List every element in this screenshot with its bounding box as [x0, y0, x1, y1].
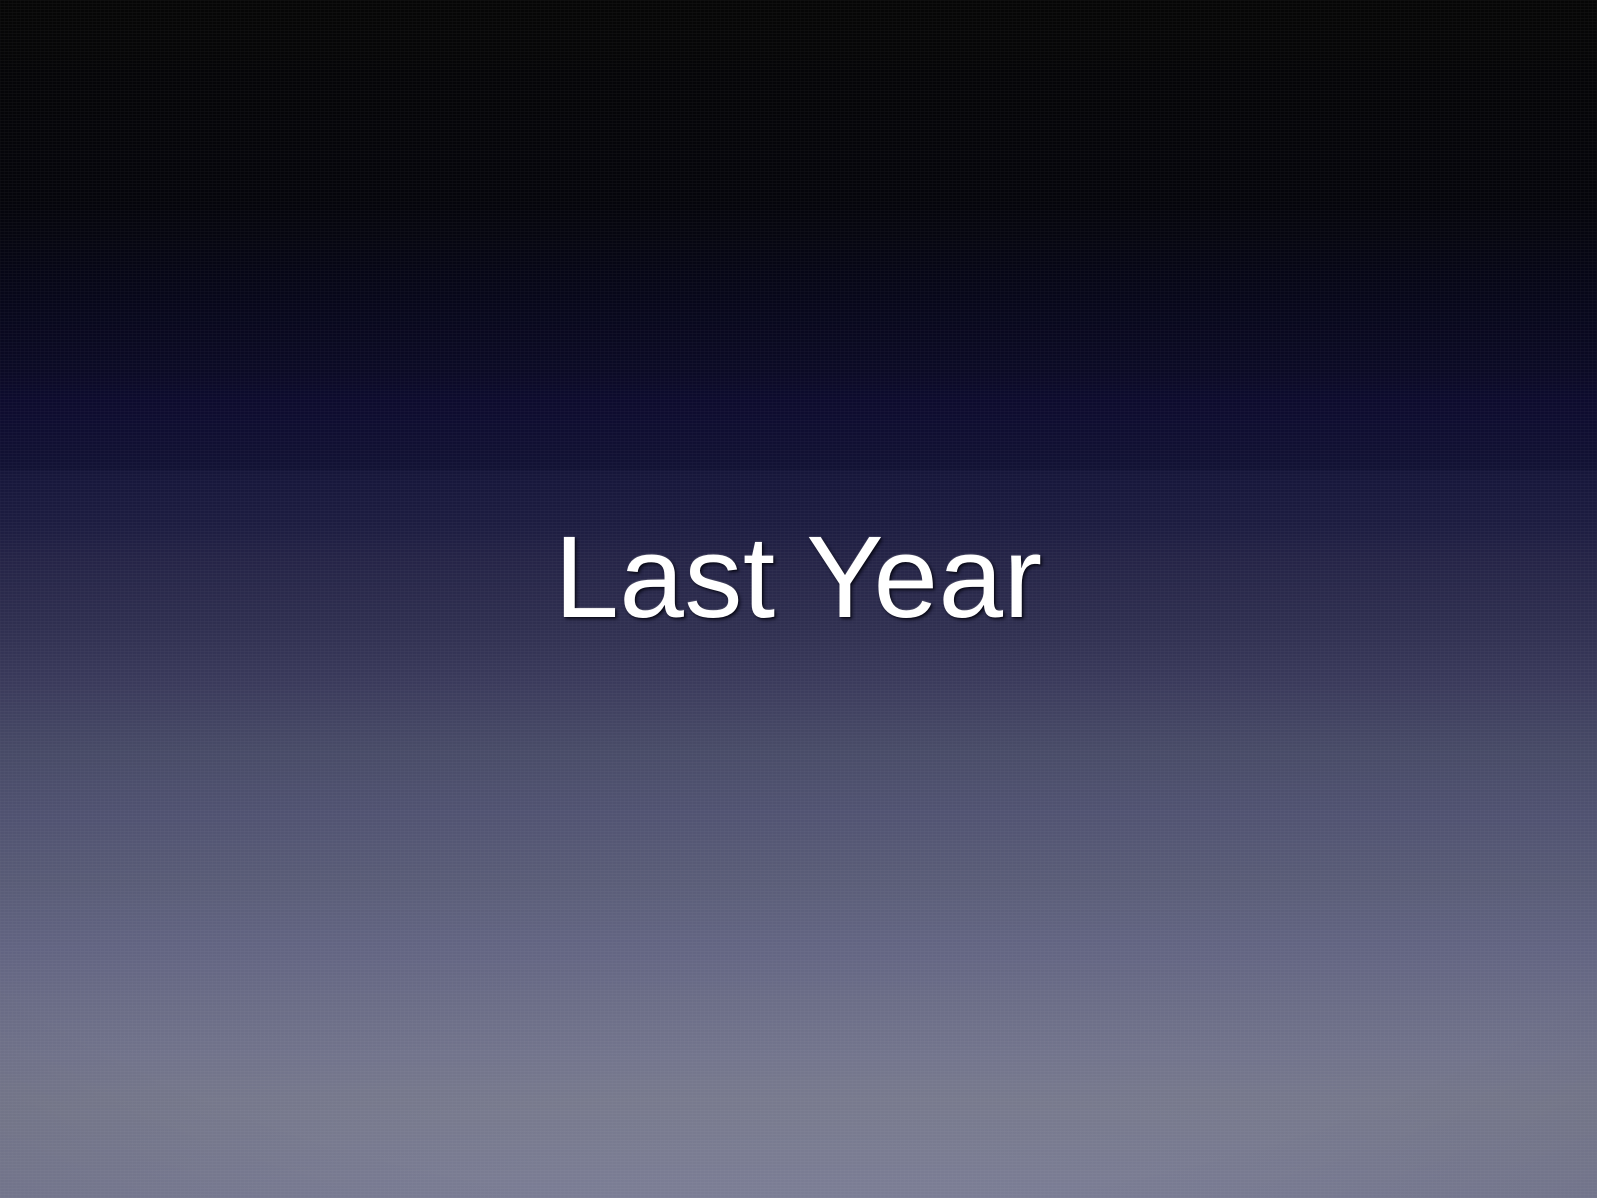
title-block: Last Year [0, 0, 1597, 1198]
presentation-slide: Last Year [0, 0, 1597, 1198]
slide-title: Last Year [554, 519, 1042, 635]
